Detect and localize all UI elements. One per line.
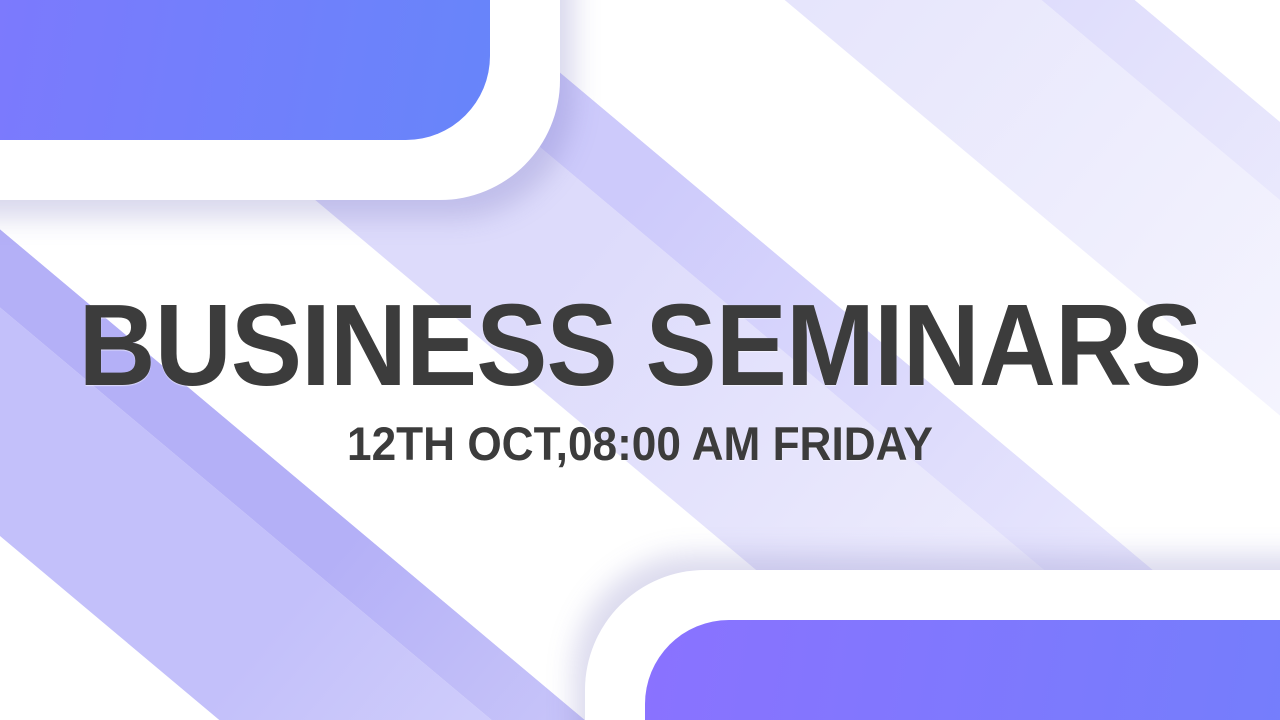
event-datetime: 12TH OCT,08:00 AM FRIDAY [38, 416, 1241, 471]
event-title: BUSINESS SEMINARS [51, 286, 1229, 404]
bottom-right-white-layer [603, 588, 1280, 720]
bottom-right-shadow-layer [585, 570, 1280, 720]
top-left-shadow-layer [0, 0, 560, 200]
bottom-right-gradient-shape [645, 620, 1280, 720]
stripe-0 [0, 629, 759, 720]
top-left-gradient-shape [0, 0, 490, 140]
stripe-3 [0, 434, 923, 720]
stripe-1 [0, 537, 836, 720]
banner-text-block: BUSINESS SEMINARS 12TH OCT,08:00 AM FRID… [0, 286, 1280, 471]
top-left-white-layer [0, 0, 530, 172]
event-banner: BUSINESS SEMINARS 12TH OCT,08:00 AM FRID… [0, 0, 1280, 720]
stripe-2 [0, 465, 897, 720]
